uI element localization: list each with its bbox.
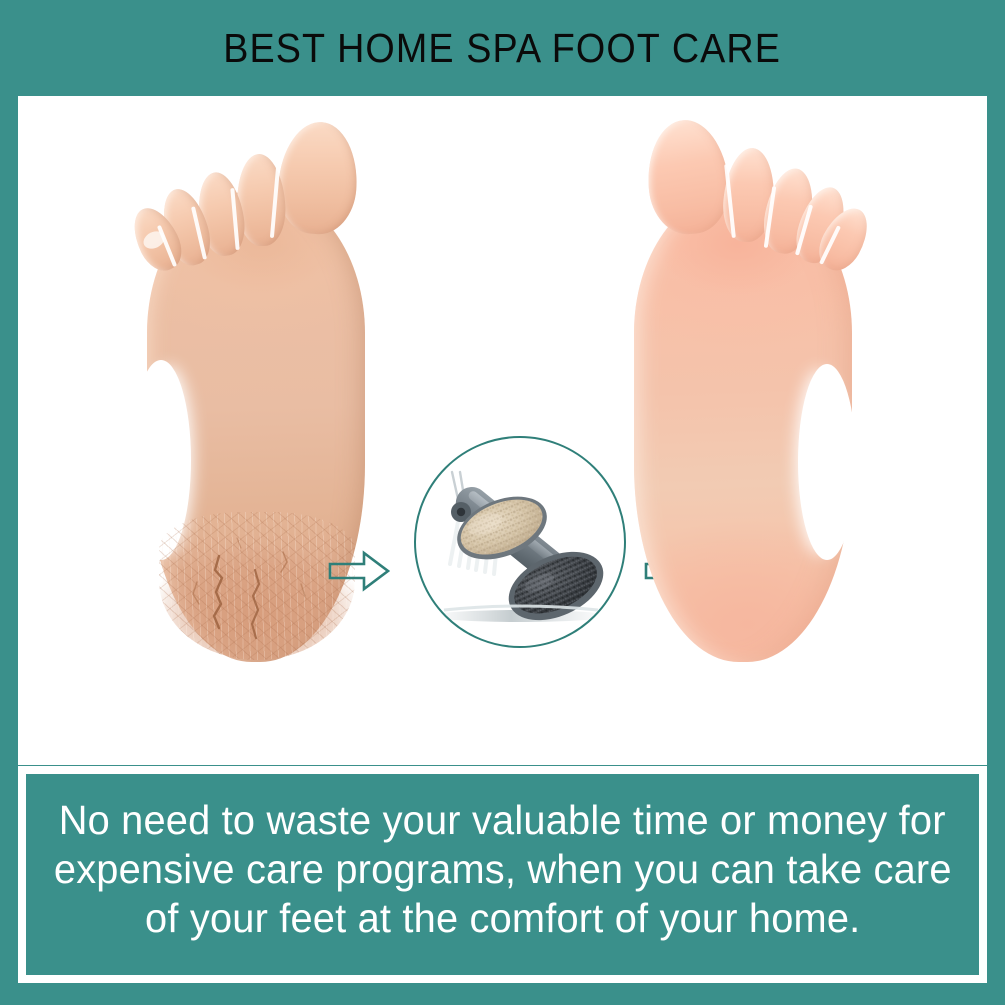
message-panel: No need to waste your valuable time or m…	[24, 772, 981, 977]
cracked-heel-region	[159, 512, 355, 660]
page-title: BEST HOME SPA FOOT CARE	[224, 25, 782, 72]
arrow-right-icon	[328, 548, 390, 594]
product-poster: BEST HOME SPA FOOT CARE	[0, 0, 1005, 1005]
message-line-2: expensive care programs, when you can ta…	[54, 845, 952, 894]
after-foot-image	[618, 114, 868, 669]
comparison-card: BEFORE AFTER	[18, 96, 987, 765]
after-arch-shadow	[798, 364, 856, 560]
message-line-3: of your feet at the comfort of your home…	[145, 894, 860, 943]
after-toe-big	[643, 117, 733, 238]
foot-file-tool-icon	[416, 438, 624, 646]
product-tool-image	[414, 436, 626, 648]
title-banner: BEST HOME SPA FOOT CARE	[0, 0, 1005, 96]
before-toe-big	[275, 119, 361, 236]
message-panel-frame: No need to waste your valuable time or m…	[18, 766, 987, 983]
feet-stage	[18, 96, 987, 676]
heel-crack-lines	[159, 512, 355, 660]
message-line-1: No need to waste your valuable time or m…	[59, 796, 946, 845]
